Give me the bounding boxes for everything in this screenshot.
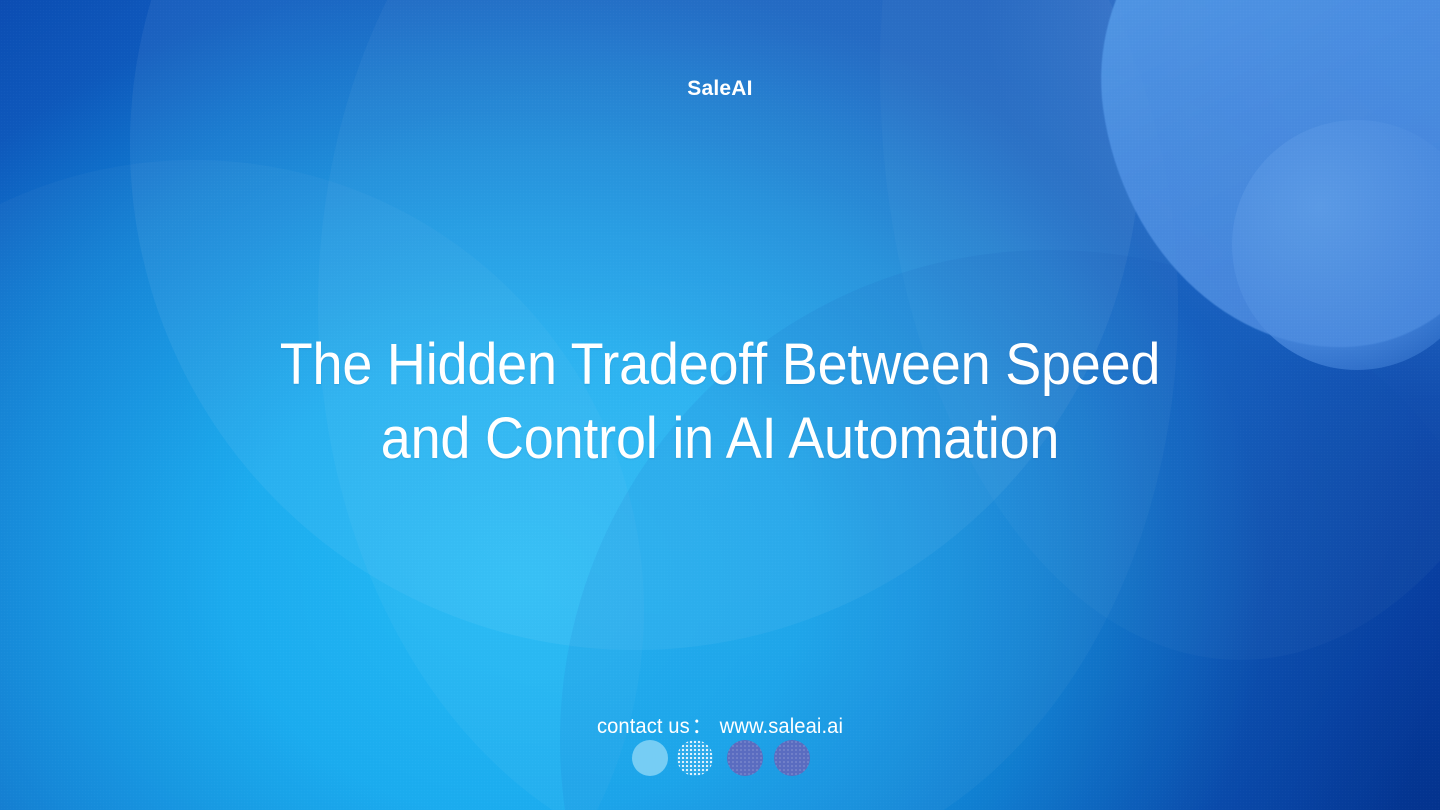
- presentation-slide: SaleAI The Hidden Tradeoff Between Speed…: [0, 0, 1440, 810]
- brand-logo-text: SaleAI: [0, 78, 1440, 99]
- slide-title: The Hidden Tradeoff Between Speed and Co…: [50, 328, 1389, 476]
- contact-footer: contact us：www.saleai.ai: [29, 713, 1411, 741]
- dot-light-cyan-icon: [632, 740, 668, 776]
- slide-content: SaleAI The Hidden Tradeoff Between Speed…: [0, 0, 1440, 810]
- contact-label: contact us: [597, 715, 690, 738]
- dot-slate-purple-1-icon: [727, 740, 763, 776]
- decorative-dot-row: [0, 740, 1440, 810]
- contact-url[interactable]: www.saleai.ai: [720, 715, 843, 738]
- dot-slate-purple-2-icon: [774, 740, 810, 776]
- contact-separator: ：: [692, 715, 712, 738]
- dot-dotted-cyan-icon: [677, 740, 713, 776]
